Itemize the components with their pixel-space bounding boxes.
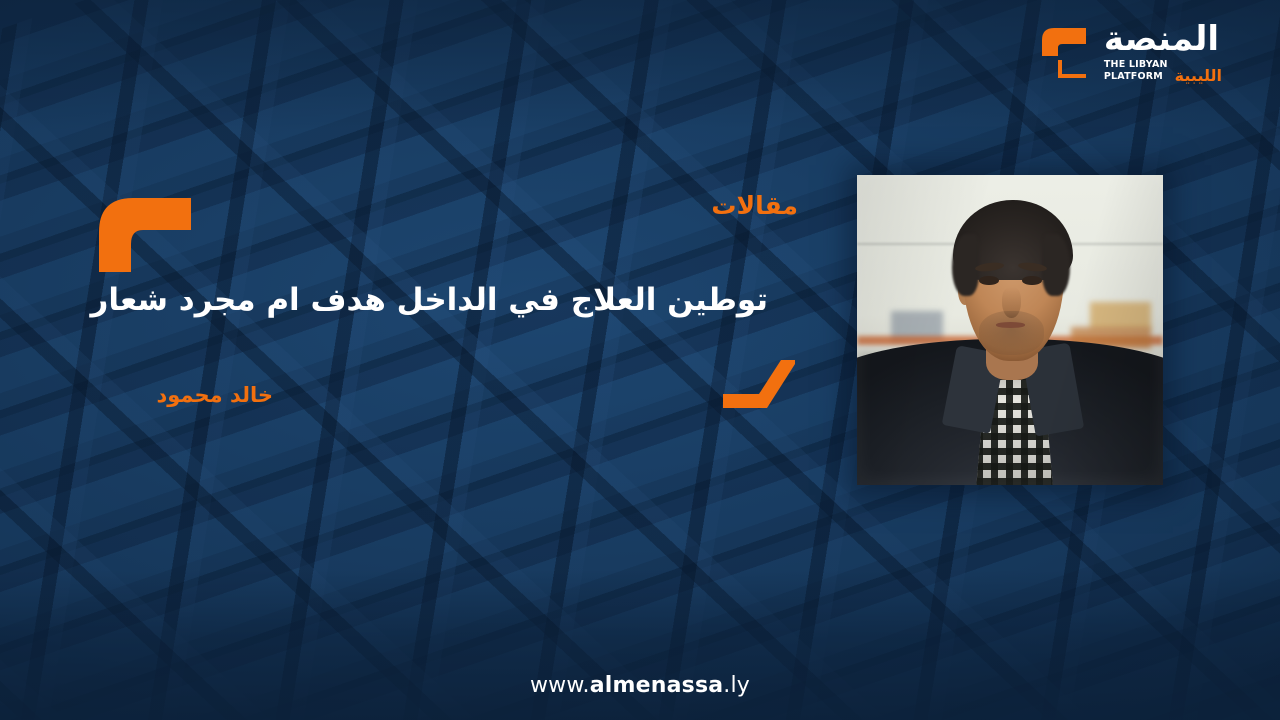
logo-subtitle-row: الليبية THE LIBYAN PLATFORM — [1104, 59, 1222, 84]
footer-website-url[interactable]: www.almenassa.ly — [0, 673, 1280, 698]
portrait-shading — [857, 175, 1163, 485]
almenassa-logo-mark-icon — [1036, 22, 1094, 84]
portrait-image — [857, 175, 1163, 485]
site-logo[interactable]: المنصة الليبية THE LIBYAN PLATFORM — [1036, 22, 1222, 84]
quote-open-bracket-icon — [99, 196, 191, 272]
url-domain: almenassa — [590, 673, 724, 698]
logo-english-line-2: PLATFORM — [1104, 71, 1163, 82]
logo-arabic-subtitle: الليبية — [1175, 68, 1222, 84]
logo-arabic-name: المنصة — [1104, 22, 1219, 56]
quote-close-bracket-icon — [723, 360, 795, 408]
url-prefix: www. — [530, 673, 590, 698]
logo-english-subtitle: THE LIBYAN PLATFORM — [1104, 59, 1168, 84]
article-card: المنصة الليبية THE LIBYAN PLATFORM — [0, 0, 1280, 720]
logo-wordmark: المنصة الليبية THE LIBYAN PLATFORM — [1104, 22, 1222, 84]
author-byline[interactable]: خالد محمود — [156, 385, 273, 406]
author-portrait — [857, 175, 1163, 485]
article-headline: توطين العلاج في الداخل هدف ام مجرد شعار — [148, 280, 768, 322]
logo-english-line-1: THE LIBYAN — [1104, 59, 1168, 70]
url-tld: .ly — [723, 673, 750, 698]
category-kicker[interactable]: مقالات — [711, 193, 798, 218]
